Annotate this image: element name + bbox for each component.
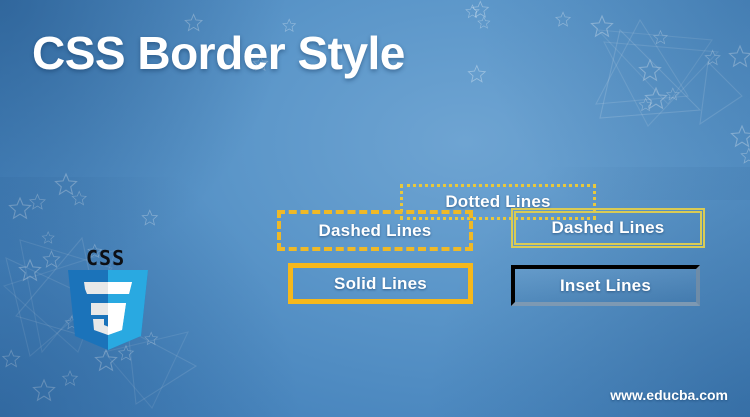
footer-website-url: www.educba.com [610,387,728,403]
border-box-inset-label: Inset Lines [560,276,651,296]
border-box-double: Dashed Lines [511,208,705,248]
corner-vignette-bottom-left [0,177,320,417]
css3-logo-wordmark: CSS [86,248,125,268]
css3-logo: CSS [62,248,158,352]
page-title: CSS Border Style [32,26,405,80]
border-box-dashed: Dashed Lines [277,210,473,251]
border-box-solid-label: Solid Lines [334,274,427,294]
css3-shield-icon [66,270,150,352]
border-box-dashed-label: Dashed Lines [319,221,432,241]
slide-canvas: CSS Border Style CSS Dotted Lines Dashed… [0,0,750,417]
border-box-inset: Inset Lines [511,265,700,306]
border-box-double-label: Dashed Lines [552,218,665,238]
border-box-solid: Solid Lines [288,263,473,304]
corner-vignette-top-right [450,0,750,200]
